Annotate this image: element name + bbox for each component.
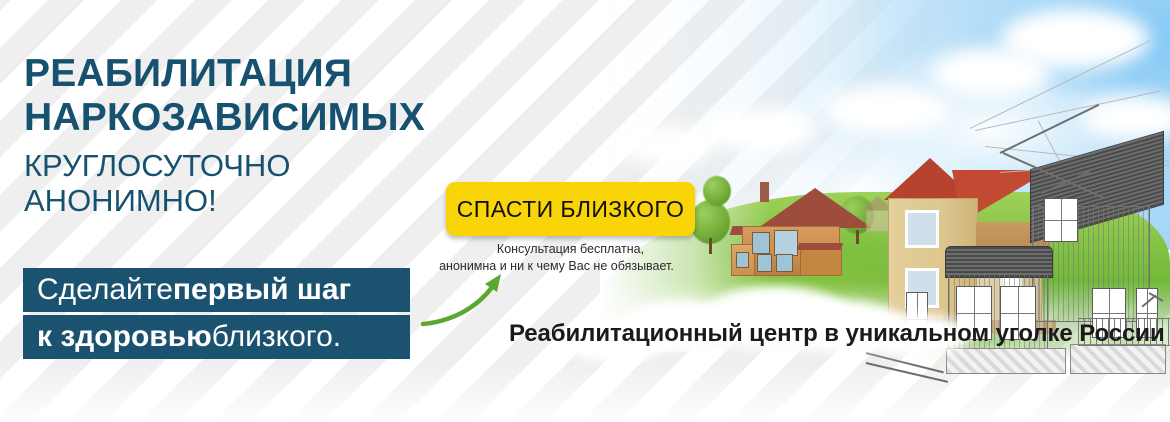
subheadline: КРУГЛОСУТОЧНО АНОНИМНО! xyxy=(24,148,290,218)
subheadline-line-2: АНОНИМНО! xyxy=(24,183,290,218)
tagline: Реабилитационный центр в уникальном угол… xyxy=(509,320,1165,348)
highlight-box-row-1: Сделайте первый шаг xyxy=(23,268,410,312)
promo-banner: РЕАБИЛИТАЦИЯ НАРКОЗАВИСИМЫХ КРУГЛОСУТОЧН… xyxy=(0,0,1170,422)
cloud-icon xyxy=(930,48,1050,98)
highlight-row1-regular: Сделайте xyxy=(37,273,173,307)
highlight-box-row-2: к здоровью близкого. xyxy=(23,315,410,359)
page-title: РЕАБИЛИТАЦИЯ НАРКОЗАВИСИМЫХ xyxy=(24,54,425,138)
cloud-icon xyxy=(615,126,715,164)
highlight-row1-bold: первый шаг xyxy=(173,273,351,307)
save-loved-one-button[interactable]: СПАСТИ БЛИЗКОГО xyxy=(446,182,695,236)
cta-disclaimer-line-1: Консультация бесплатна, xyxy=(446,241,695,258)
tree-trunk xyxy=(856,230,859,244)
cloud-icon xyxy=(700,108,820,152)
tree-trunk xyxy=(709,238,712,254)
highlight-row2-regular: близкого. xyxy=(212,320,341,354)
highlight-row2-bold: к здоровью xyxy=(37,320,212,354)
subheadline-line-1: КРУГЛОСУТОЧНО xyxy=(24,148,290,183)
tree-icon xyxy=(703,176,731,206)
cloud-icon xyxy=(820,86,950,134)
headline-line-1: РЕАБИЛИТАЦИЯ xyxy=(24,54,425,94)
headline-line-2: НАРКОЗАВИСИМЫХ xyxy=(24,98,425,138)
